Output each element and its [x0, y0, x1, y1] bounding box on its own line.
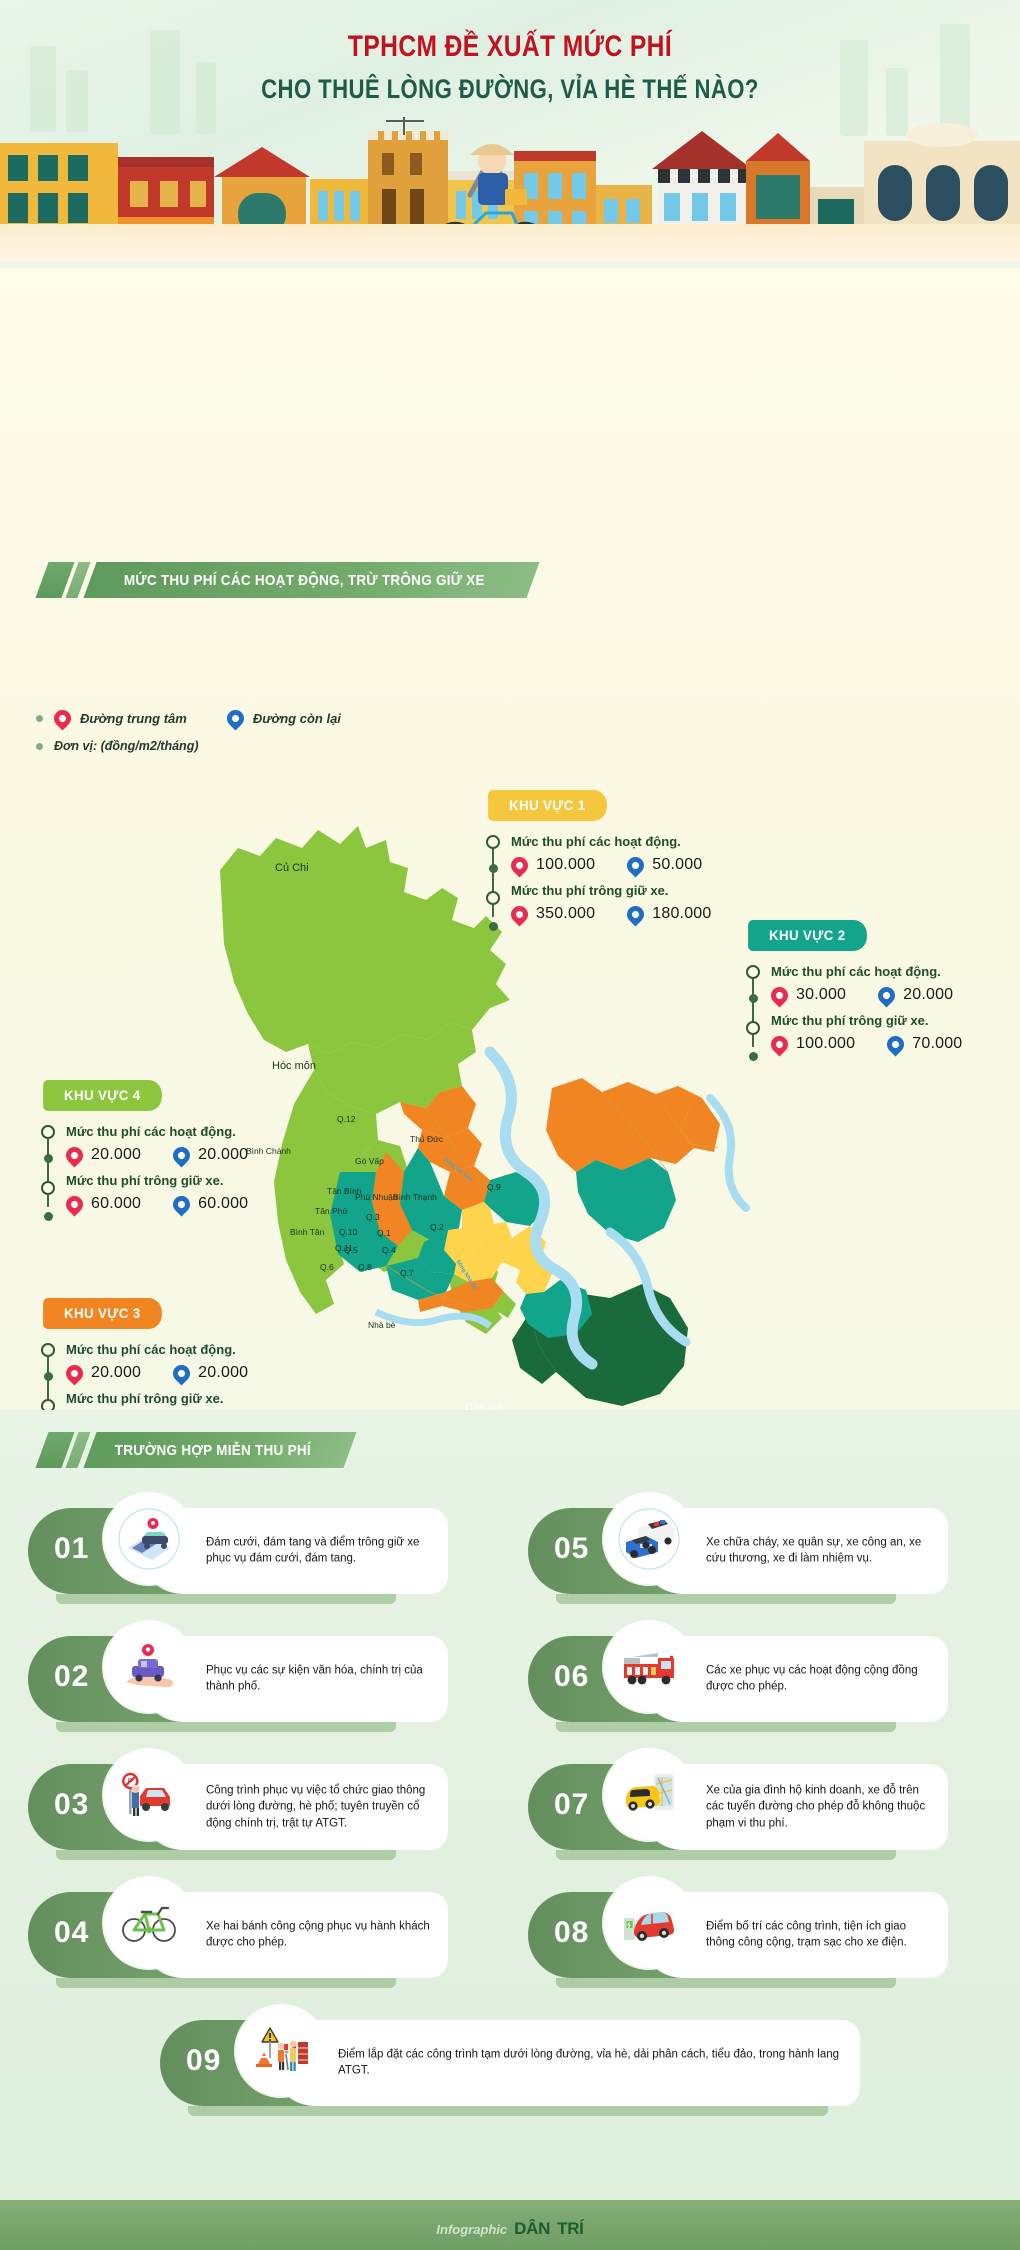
zone-3-activities-other: 20.000	[198, 1364, 248, 1382]
legend-other-road-label: Đường còn lại	[253, 711, 341, 726]
exemption-01-text: Đám cưới, đám tang và điểm trông giữ xe …	[206, 1535, 434, 1568]
ambulance-police-icon	[604, 1494, 694, 1584]
district-label-go-vap: Gò Vấp	[355, 1156, 384, 1166]
pin-blue-icon	[173, 1196, 190, 1213]
zone-4-parking-label: Mức thu phí trông giữ xe.	[66, 1173, 248, 1188]
district-label-q7: Q.7	[400, 1268, 414, 1278]
zone-2-badge: KHU VỰC 2	[748, 920, 866, 951]
exemption-06-number: 06	[554, 1660, 589, 1694]
zone-2-node-3	[746, 1021, 760, 1035]
exemption-item-07[interactable]: 07 Xe của gia đình hộ kinh doanh, xe đỗ …	[528, 1752, 948, 1862]
zone-2-body: Mức thu phí các hoạt động. 30.000 20.000…	[745, 964, 962, 1053]
zone-4-body: Mức thu phí các hoạt động. 20.000 20.000…	[40, 1124, 248, 1213]
exemption-06-text: Các xe phục vụ các hoạt động cộng đồng đ…	[706, 1663, 934, 1696]
exemption-07-text: Xe của gia đình hộ kinh doanh, xe đỗ trê…	[706, 1783, 934, 1832]
exemption-01-number: 01	[54, 1532, 89, 1566]
district-label-binh-tan: Bình Tân	[290, 1227, 324, 1237]
zone-1-node-2	[489, 864, 498, 873]
footer-prefix: Infographic	[436, 2222, 507, 2237]
pin-red-icon	[66, 1365, 83, 1382]
exemption-09-number: 09	[186, 2044, 221, 2078]
footer-brand-dan: DÂN	[514, 2219, 550, 2239]
district-label-q1: Q.1	[377, 1228, 391, 1238]
pin-red-icon	[511, 906, 528, 923]
zone-1-rail	[492, 838, 494, 917]
car-on-hand-icon	[104, 1622, 194, 1712]
exemption-03-shadow	[56, 1850, 396, 1860]
zone-2-activities-label: Mức thu phí các hoạt động.	[771, 964, 962, 979]
zone-1-activities-center: 100.000	[536, 856, 595, 874]
zone-card-2: KHU VỰC 2 Mức thu phí các hoạt động. 30.…	[745, 920, 962, 1062]
pin-blue-icon	[878, 987, 895, 1004]
exemption-04-text: Xe hai bánh công cộng phục vụ hành khách…	[206, 1919, 434, 1952]
zone-card-4: KHU VỰC 4 Mức thu phí các hoạt động. 20.…	[40, 1080, 248, 1222]
exemption-04-number: 04	[54, 1916, 89, 1950]
pin-blue-icon	[887, 1036, 904, 1053]
legend-center-road-label: Đường trung tâm	[80, 711, 187, 726]
exemption-section: TRƯỜNG HỢP MIỄN THU PHÍ 01	[0, 1410, 1020, 2250]
district-label-q4: Q.4	[382, 1245, 396, 1255]
fire-truck-icon	[604, 1622, 694, 1712]
pin-red-icon	[66, 1147, 83, 1164]
zone-3-activities-values: 20.000 20.000	[66, 1364, 248, 1382]
ev-charging-car-icon	[604, 1878, 694, 1968]
zone-4-parking-other: 60.000	[198, 1195, 248, 1213]
ribbon2-bar: TRƯỜNG HỢP MIỄN THU PHÍ	[83, 1432, 356, 1468]
exemption-05-number: 05	[554, 1532, 589, 1566]
zone-4-rail	[47, 1128, 49, 1207]
title-block: TPHCM ĐỀ XUẤT MỨC PHÍ CHO THUÊ LÒNG ĐƯỜN…	[0, 0, 1020, 105]
legend-unit-label: Đơn vị: (đồng/m2/tháng)	[54, 739, 199, 753]
zone-1-parking-other: 180.000	[652, 905, 711, 923]
traffic-officer-car-icon: P	[104, 1750, 194, 1840]
exemption-04-shadow	[56, 1978, 396, 1988]
exemption-08-text: Điểm bố trí các công trình, tiện ích gia…	[706, 1919, 934, 1952]
legend-bullet-icon-2	[36, 743, 43, 750]
pin-blue-icon	[173, 1147, 190, 1164]
exemption-09-text: Điểm lắp đặt các công trình tạm dưới lòn…	[338, 2047, 846, 2080]
zone-3-activities-center: 20.000	[91, 1364, 141, 1382]
district-label-q8: Q.8	[358, 1262, 372, 1272]
pin-red-icon	[771, 987, 788, 1004]
pin-blue-icon	[227, 710, 244, 727]
zone-4-parking-values: 60.000 60.000	[66, 1195, 248, 1213]
pin-red-icon	[771, 1036, 788, 1053]
pin-blue-icon	[173, 1365, 190, 1382]
zone-3-badge: KHU VỰC 3	[43, 1298, 161, 1329]
zone-card-1: KHU VỰC 1 Mức thu phí các hoạt động. 100…	[485, 790, 712, 932]
zone-4-node-4	[44, 1212, 53, 1221]
zone-2-activities-values: 30.000 20.000	[771, 986, 962, 1004]
exemption-item-04[interactable]: 04 Xe hai bánh công cộng phục vụ hành kh…	[28, 1880, 448, 1990]
district-label-tan-phu: Tân Phú	[315, 1206, 347, 1216]
exemption-item-08[interactable]: 08 Điểm bố trí các công trình, tiện ích …	[528, 1880, 948, 1990]
exemption-08-shadow	[556, 1978, 896, 1988]
ribbon-bar: MỨC THU PHÍ CÁC HOẠT ĐỘNG, TRỪ TRÔNG GIỮ…	[83, 562, 539, 598]
district-label-q2: Q.2	[430, 1222, 444, 1232]
exemption-item-02[interactable]: 02 Phục vụ các sự kiện văn hóa, chính tr…	[28, 1624, 448, 1734]
exemption-07-shadow	[556, 1850, 896, 1860]
zone-1-badge: KHU VỰC 1	[488, 790, 606, 821]
zone-4-node-2	[44, 1154, 53, 1163]
exemption-03-number: 03	[54, 1788, 89, 1822]
zone-4-node-3	[41, 1181, 55, 1195]
district-label-thu-duc: Thủ Đức	[410, 1134, 443, 1144]
header-banner: TPHCM ĐỀ XUẤT MỨC PHÍ CHO THUÊ LÒNG ĐƯỜN…	[0, 0, 1020, 262]
street-ground	[0, 224, 1020, 262]
zone-2-rail	[752, 968, 754, 1047]
zone-1-activities-values: 100.000 50.000	[511, 856, 712, 874]
zone-1-node-4	[489, 922, 498, 931]
district-label-binh-thanh: Bình Thạnh	[393, 1192, 437, 1202]
pin-red-icon	[511, 857, 528, 874]
fee-section-title: MỨC THU PHÍ CÁC HOẠT ĐỘNG, TRỪ TRÔNG GIỮ…	[124, 572, 485, 589]
exemption-section-title: TRƯỜNG HỢP MIỄN THU PHÍ	[115, 1442, 311, 1459]
footer-brand-tri: TRÍ	[557, 2219, 583, 2239]
zone-4-activities-values: 20.000 20.000	[66, 1146, 248, 1164]
zone-1-node-3	[486, 891, 500, 905]
district-label-binh-chanh: Bình Chánh	[246, 1146, 291, 1156]
zone-4-activities-label: Mức thu phí các hoạt động.	[66, 1124, 248, 1139]
zone-3-activities-label: Mức thu phí các hoạt động.	[66, 1342, 248, 1357]
district-label-q9: Q.9	[487, 1182, 501, 1192]
district-label-q3: Q.3	[366, 1212, 380, 1222]
zone-1-parking-label: Mức thu phí trông giữ xe.	[511, 883, 712, 898]
exemption-item-01[interactable]: 01 Đám cưới, đám tang và điểm trông giữ …	[28, 1496, 448, 1606]
district-label-cu-chi: Củ Chi	[275, 862, 309, 874]
fee-map-section: MỨC THU PHÍ CÁC HOẠT ĐỘNG, TRỪ TRÔNG GIỮ…	[0, 262, 1020, 1410]
zone-4-node-1	[41, 1125, 55, 1139]
exemption-02-shadow	[56, 1722, 396, 1732]
exemption-section-ribbon: TRƯỜNG HỢP MIỄN THU PHÍ	[42, 1432, 350, 1468]
legend-row-unit: Đơn vị: (đồng/m2/tháng)	[36, 739, 341, 753]
district-label-hoc-mon: Hóc môn	[272, 1060, 316, 1072]
zone-2-parking-center: 100.000	[796, 1035, 855, 1053]
zone-4-activities-center: 20.000	[91, 1146, 141, 1164]
zone-2-activities-center: 30.000	[796, 986, 846, 1004]
footer-strip	[0, 2200, 1020, 2208]
exemption-06-shadow	[556, 1722, 896, 1732]
zone-2-parking-label: Mức thu phí trông giữ xe.	[771, 1013, 962, 1028]
map-area-q2	[576, 1158, 676, 1242]
pin-red-icon	[66, 1196, 83, 1213]
legend-bullet-icon	[36, 715, 43, 722]
exemption-07-number: 07	[554, 1788, 589, 1822]
district-label-phu-nhuan: Phú Nhuận	[355, 1192, 398, 1202]
zone-2-parking-other: 70.000	[912, 1035, 962, 1053]
zone-2-node-2	[749, 994, 758, 1003]
zone-2-parking-values: 100.000 70.000	[771, 1035, 962, 1053]
district-label-q12: Q.12	[337, 1114, 355, 1124]
exemption-05-text: Xe chữa cháy, xe quân sự, xe công an, xe…	[706, 1535, 934, 1568]
car-on-map-icon	[104, 1494, 194, 1584]
district-label-nha-be: Nhà bè	[368, 1320, 395, 1330]
yellow-car-map-icon	[604, 1750, 694, 1840]
exemption-05-shadow	[556, 1594, 896, 1604]
district-label-q6: Q.6	[320, 1262, 334, 1272]
bicycle-icon	[104, 1878, 194, 1968]
zone-4-badge: KHU VỰC 4	[43, 1080, 161, 1111]
zone-2-node-4	[749, 1052, 758, 1061]
exemption-item-05[interactable]: 05 Xe chữa cháy, xe quân sự, xe công an,	[528, 1496, 948, 1606]
exemption-02-number: 02	[54, 1660, 89, 1694]
pin-blue-icon	[627, 857, 644, 874]
exemption-03-text: Công trình phục vụ việc tổ chức giao thô…	[206, 1783, 434, 1832]
pin-red-icon	[54, 710, 71, 727]
zone-1-activities-label: Mức thu phí các hoạt động.	[511, 834, 712, 849]
zone-4-activities-other: 20.000	[198, 1146, 248, 1164]
zone-2-activities-other: 20.000	[903, 986, 953, 1004]
exemption-09-shadow	[188, 2106, 828, 2116]
exemption-item-06[interactable]: 06 Các xe phục vụ c	[528, 1624, 948, 1734]
footer-bar: Infographic DÂN TRÍ	[0, 2208, 1020, 2250]
legend-row-roads: Đường trung tâm Đường còn lại	[36, 710, 341, 727]
exemption-item-09[interactable]: 09	[160, 2008, 860, 2118]
zone-3-node-2	[44, 1372, 53, 1381]
page-title-line2: CHO THUÊ LÒNG ĐƯỜNG, VỈA HÈ THẾ NÀO?	[92, 74, 928, 105]
exemption-item-03[interactable]: 03 P Công trình phục vụ việc tổ	[28, 1752, 448, 1862]
district-label-q10: Q.10	[339, 1227, 357, 1237]
zone-1-node-1	[486, 835, 500, 849]
zone-2-node-1	[746, 965, 760, 979]
district-label-q11: Q.11	[335, 1243, 353, 1253]
map-area-cu-chi	[220, 826, 510, 1054]
zone-1-activities-other: 50.000	[652, 856, 702, 874]
zone-4-parking-center: 60.000	[91, 1195, 141, 1213]
exemption-01-shadow	[56, 1594, 396, 1604]
roadworks-icon	[236, 2006, 326, 2096]
page-title-line1: TPHCM ĐỀ XUẤT MỨC PHÍ	[92, 30, 928, 64]
fee-section-ribbon: MỨC THU PHÍ CÁC HOẠT ĐỘNG, TRỪ TRÔNG GIỮ…	[42, 562, 533, 598]
river-dong-nai	[710, 1098, 746, 1208]
zone-1-body: Mức thu phí các hoạt động. 100.000 50.00…	[485, 834, 712, 923]
zone-3-node-1	[41, 1343, 55, 1357]
zone-3-parking-label: Mức thu phí trông giữ xe.	[66, 1391, 248, 1406]
pin-blue-icon	[627, 906, 644, 923]
zone-1-parking-center: 350.000	[536, 905, 595, 923]
exemption-08-number: 08	[554, 1916, 589, 1950]
exemption-02-text: Phục vụ các sự kiện văn hóa, chính trị c…	[206, 1663, 434, 1696]
section-divider	[0, 262, 1020, 268]
zone-1-parking-values: 350.000 180.000	[511, 905, 712, 923]
